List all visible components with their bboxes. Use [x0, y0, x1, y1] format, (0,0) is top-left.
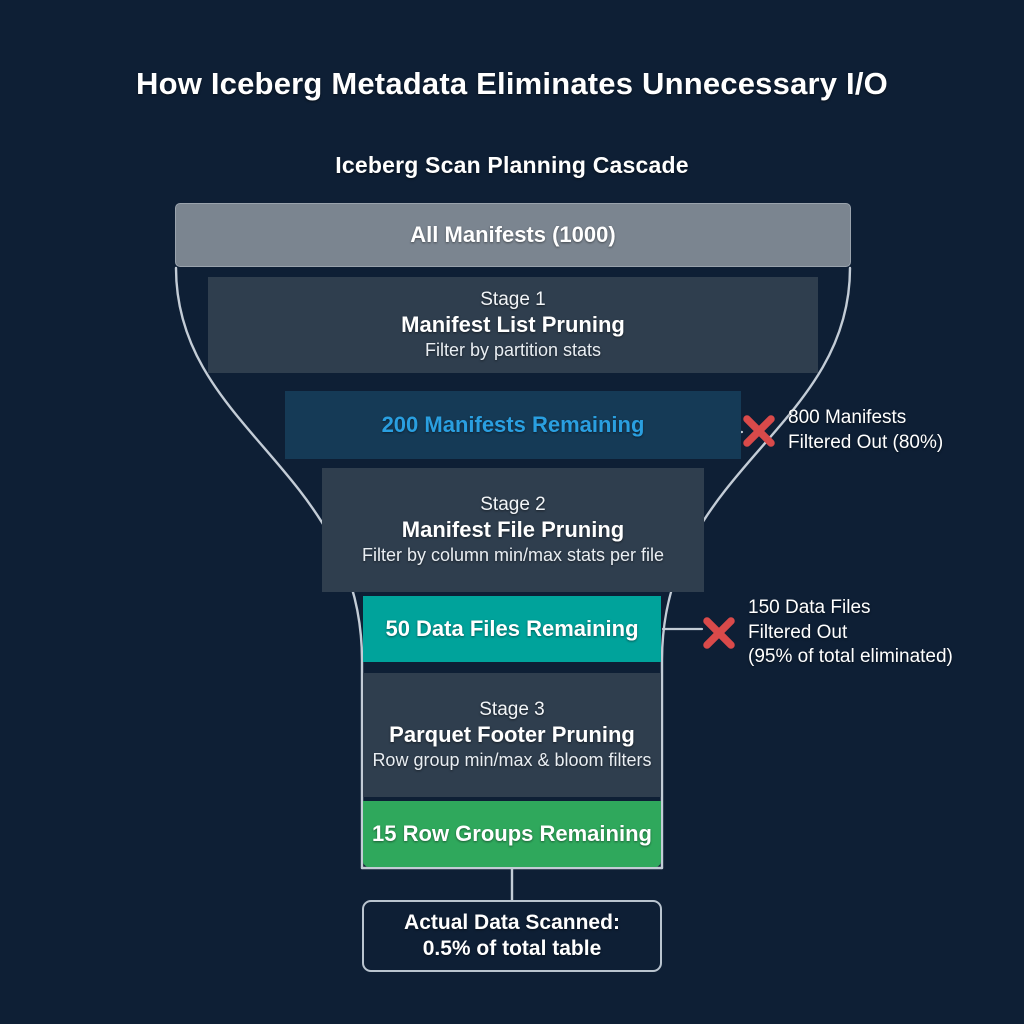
band-label: All Manifests (1000)	[410, 222, 615, 249]
page-title: How Iceberg Metadata Eliminates Unnecess…	[0, 66, 1024, 102]
stage-2-number: Stage 2	[480, 493, 546, 516]
x-mark-icon	[698, 612, 740, 654]
annotation-2-line-1: 150 Data Files	[748, 596, 953, 621]
result-3-label: 15 Row Groups Remaining	[372, 821, 652, 848]
stage-3-name: Parquet Footer Pruning	[389, 722, 635, 749]
diagram-canvas: How Iceberg Metadata Eliminates Unnecess…	[0, 0, 1024, 1024]
funnel-result-2[interactable]: 50 Data Files Remaining	[363, 596, 661, 662]
stage-1-number: Stage 1	[480, 288, 546, 311]
funnel-stage-1[interactable]: Stage 1 Manifest List Pruning Filter by …	[208, 277, 818, 373]
summary-line-1: Actual Data Scanned:	[404, 910, 620, 936]
funnel-result-1[interactable]: 200 Manifests Remaining	[285, 391, 741, 459]
funnel-stage-2[interactable]: Stage 2 Manifest File Pruning Filter by …	[322, 468, 704, 592]
summary-line-2: 0.5% of total table	[423, 936, 602, 962]
result-2-label: 50 Data Files Remaining	[385, 616, 638, 643]
annotation-2-text: 150 Data Files Filtered Out (95% of tota…	[748, 596, 953, 670]
result-1-label: 200 Manifests Remaining	[382, 412, 645, 439]
stage-1-description: Filter by partition stats	[425, 340, 601, 362]
stage-2-description: Filter by column min/max stats per file	[362, 545, 664, 567]
stage-3-description: Row group min/max & bloom filters	[372, 750, 651, 772]
summary-box[interactable]: Actual Data Scanned: 0.5% of total table	[362, 900, 662, 972]
x-mark-icon	[738, 410, 780, 452]
stage-1-name: Manifest List Pruning	[401, 312, 625, 339]
annotation-2-line-3: (95% of total eliminated)	[748, 645, 953, 670]
funnel-band-all-manifests[interactable]: All Manifests (1000)	[175, 203, 851, 267]
annotation-filtered-manifests: 800 Manifests Filtered Out (80%)	[738, 406, 943, 455]
funnel-stage-3[interactable]: Stage 3 Parquet Footer Pruning Row group…	[363, 673, 661, 797]
diagram-subtitle: Iceberg Scan Planning Cascade	[0, 152, 1024, 179]
annotation-1-line-2: Filtered Out (80%)	[788, 431, 943, 456]
stage-2-name: Manifest File Pruning	[402, 517, 624, 544]
annotation-1-line-1: 800 Manifests	[788, 406, 943, 431]
annotation-2-line-2: Filtered Out	[748, 621, 953, 646]
annotation-1-text: 800 Manifests Filtered Out (80%)	[788, 406, 943, 455]
funnel-result-3[interactable]: 15 Row Groups Remaining	[363, 801, 661, 867]
stage-3-number: Stage 3	[479, 698, 545, 721]
annotation-filtered-data-files: 150 Data Files Filtered Out (95% of tota…	[698, 596, 953, 670]
